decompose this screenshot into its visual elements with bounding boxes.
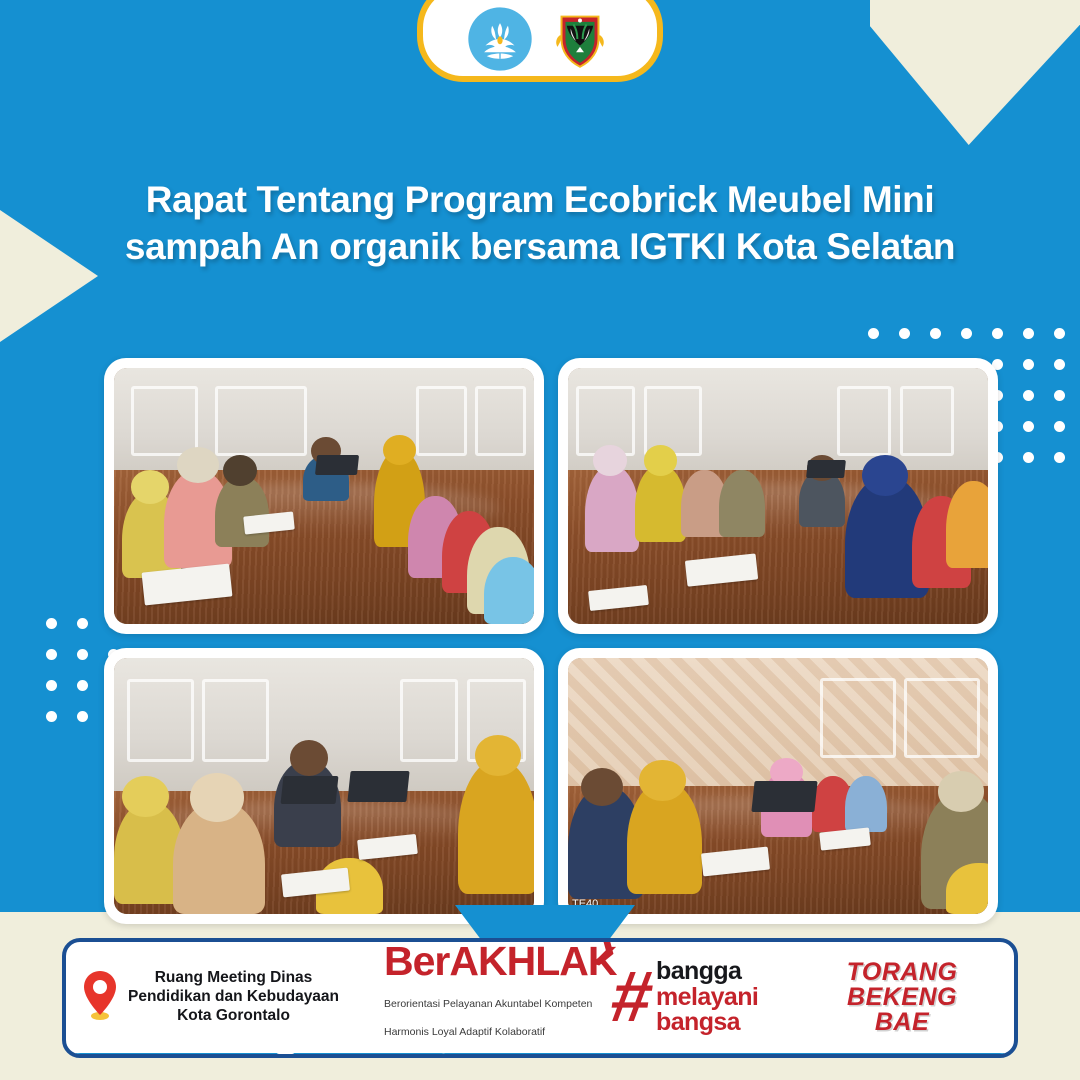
decorative-dot: [1054, 328, 1065, 339]
social-media-bar: dikbudkotagorontalo TikTok disdikbudkota…: [66, 1053, 1014, 1058]
decorative-dot: [899, 328, 910, 339]
decorative-dot: [1023, 421, 1034, 432]
instagram-icon: [99, 1053, 118, 1058]
logo-container: [417, 0, 663, 82]
hash-icon: #: [608, 972, 656, 1022]
photo-grid: TE40: [104, 358, 998, 924]
decorative-dot: [46, 711, 57, 722]
social-facebook[interactable]: dikbudkotagorontalo: [434, 1053, 598, 1058]
title-line-1: Rapat Tentang Program Ecobrick Meubel Mi…: [60, 176, 1020, 223]
whatsapp-icon: [612, 1053, 631, 1058]
photo-card-3: [104, 648, 544, 924]
decorative-dot: [930, 328, 941, 339]
decorative-dot: [1054, 421, 1065, 432]
facebook-icon: [434, 1053, 453, 1058]
title-line-2: sampah An organik bersama IGTKI Kota Sel…: [60, 223, 1020, 270]
decorative-dot: [868, 328, 879, 339]
photo-card-4: TE40: [558, 648, 998, 924]
location-text: Ruang Meeting Dinas Pendidikan dan Kebud…: [128, 969, 339, 1026]
social-instagram[interactable]: dikbudkotagorontalo: [99, 1053, 263, 1058]
globe-icon: [794, 1053, 813, 1058]
footer-branding-row: Ruang Meeting Dinas Pendidikan dan Kebud…: [66, 942, 1014, 1053]
berakhlak-wordmark: BerAKHLAK: [384, 942, 612, 981]
location-block: Ruang Meeting Dinas Pendidikan dan Kebud…: [80, 969, 380, 1026]
footer-card: Ruang Meeting Dinas Pendidikan dan Kebud…: [62, 938, 1018, 1058]
berakhlak-tagline: Berorientasi Pelayanan Akuntabel Kompete…: [384, 984, 612, 1053]
meeting-room-photo-1: [114, 368, 534, 624]
decorative-dot: [1054, 359, 1065, 370]
decorative-wedge-top-right: [870, 0, 1080, 145]
social-tiktok[interactable]: TikTok disdikbudkotagtlo: [276, 1053, 421, 1058]
map-pin-icon: [80, 969, 120, 1026]
decorative-dot: [1023, 390, 1034, 401]
social-whatsapp[interactable]: dikbud-gorontalokota: [612, 1053, 781, 1058]
social-facebook-handle: dikbudkotagorontalo: [458, 1055, 598, 1058]
decorative-dot: [77, 680, 88, 691]
bangga-melayani-bangsa-logo: # bangga melayani bangsa: [612, 959, 827, 1036]
berakhlak-logo: BerAKHLAK ❯ Berorientasi Pelayanan Akunt…: [380, 942, 612, 1053]
bangga-line-2: melayani: [656, 985, 758, 1011]
poster-canvas: Rapat Tentang Program Ecobrick Meubel Mi…: [0, 0, 1080, 1080]
bangga-line-1: bangga: [656, 959, 758, 985]
kota-gorontalo-emblem: [547, 6, 613, 72]
decorative-dot: [46, 618, 57, 629]
decorative-dot: [46, 649, 57, 660]
meeting-room-photo-4: TE40: [568, 658, 988, 914]
decorative-dot: [1023, 452, 1034, 463]
berakhlak-tagline-line2: Harmonis Loyal Adaptif Kolaboratif: [384, 1026, 612, 1040]
berakhlak-tagline-line1: Berorientasi Pelayanan Akuntabel Kompete…: [384, 998, 612, 1012]
decorative-dot: [1054, 390, 1065, 401]
website-url: https://dikbud.gorontalokota.go.id: [818, 1057, 982, 1058]
meeting-room-photo-3: [114, 658, 534, 914]
decorative-dot: [46, 680, 57, 691]
decorative-dot: [1023, 359, 1034, 370]
decorative-dot: [77, 711, 88, 722]
social-whatsapp-handle: dikbud-gorontalokota: [636, 1055, 781, 1058]
tiktok-icon: TikTok: [276, 1053, 295, 1058]
tut-wuri-handayani-logo: [467, 6, 533, 72]
social-tiktok-handle: disdikbudkotagtlo: [300, 1055, 421, 1058]
decorative-dot: [1023, 328, 1034, 339]
photo-card-1: [104, 358, 544, 634]
decorative-dot: [1054, 452, 1065, 463]
torang-bekeng-bae-logo: TORANG BEKENG BAE: [827, 960, 977, 1035]
bangga-line-3: bangsa: [656, 1010, 758, 1036]
decorative-dot: [77, 618, 88, 629]
decorative-dot: [992, 328, 1003, 339]
decorative-dot: [961, 328, 972, 339]
decorative-dot: [77, 649, 88, 660]
social-instagram-handle: dikbudkotagorontalo: [123, 1055, 263, 1058]
page-title: Rapat Tentang Program Ecobrick Meubel Mi…: [0, 176, 1080, 271]
social-website[interactable]: https://dikbud.gorontalokota.go.id: [794, 1053, 982, 1058]
photo-card-2: [558, 358, 998, 634]
meeting-room-photo-2: [568, 368, 988, 624]
